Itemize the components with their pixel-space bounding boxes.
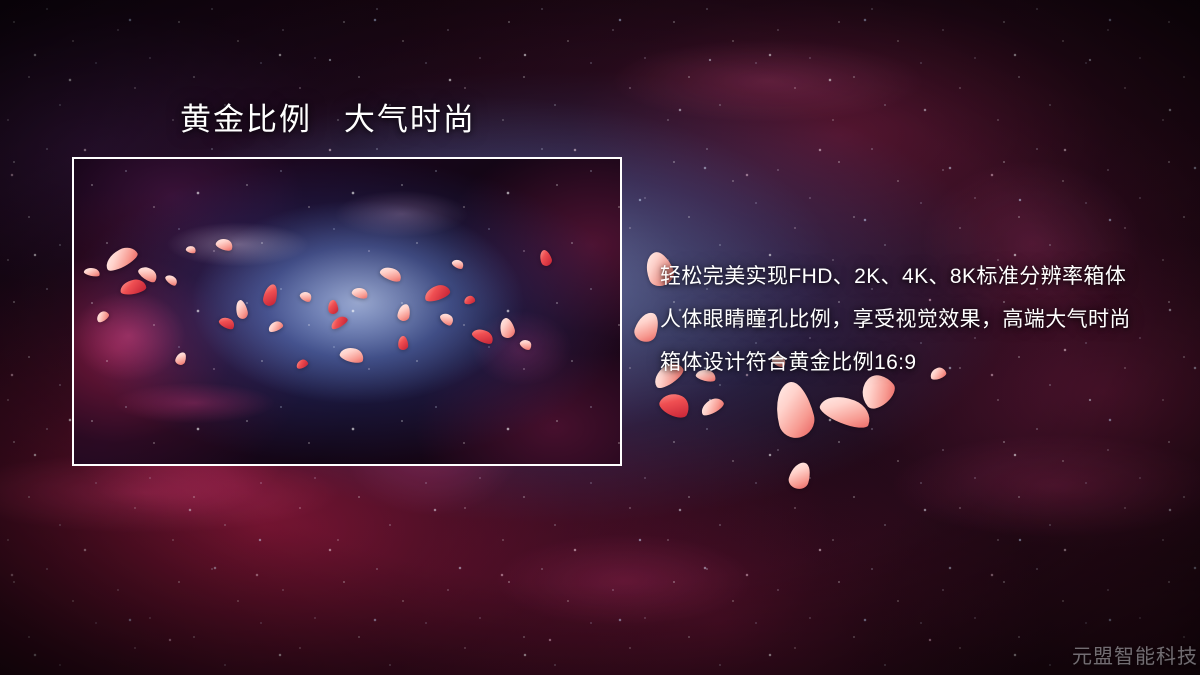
- petal: [218, 315, 237, 331]
- petal: [164, 273, 179, 287]
- body-paragraph: 轻松完美实现FHD、2K、4K、8K标准分辨率箱体 人体眼睛瞳孔比例，享受视觉效…: [660, 255, 1150, 384]
- slide-canvas: 黄金比例 大气时尚 轻松完美实现FHD、2K、4K、8K标准分辨率箱体 人体眼睛…: [0, 0, 1200, 675]
- petal: [397, 303, 412, 322]
- petal: [817, 389, 875, 433]
- petal: [770, 378, 818, 441]
- slide-title: 黄金比例 大气时尚: [180, 101, 476, 140]
- petal-cluster-photo: [74, 159, 620, 464]
- petal: [438, 311, 455, 328]
- body-line-1: 轻松完美实现FHD、2K、4K、8K标准分辨率箱体: [660, 255, 1150, 298]
- petal: [787, 460, 814, 491]
- body-line-2: 人体眼睛瞳孔比例，享受视觉效果，高端大气时尚: [660, 298, 1150, 341]
- petal: [95, 309, 111, 324]
- petal: [422, 282, 451, 303]
- petal: [327, 299, 339, 314]
- petal: [470, 326, 495, 346]
- petal: [538, 249, 554, 268]
- petal: [351, 286, 369, 300]
- petal: [463, 295, 475, 305]
- petal: [339, 345, 366, 365]
- petal: [174, 351, 188, 367]
- petal: [102, 243, 140, 274]
- petal: [698, 395, 725, 418]
- petal: [519, 337, 534, 351]
- petal: [397, 336, 408, 351]
- petal: [136, 263, 159, 284]
- petal: [657, 389, 694, 422]
- petal: [119, 278, 147, 296]
- petal: [299, 289, 314, 303]
- petal: [262, 283, 279, 307]
- petal: [379, 264, 404, 284]
- body-line-3: 箱体设计符合黄金比例16:9: [660, 341, 1150, 384]
- petal: [632, 309, 662, 344]
- petal: [83, 266, 100, 277]
- watermark-text: 元盟智能科技: [1072, 640, 1198, 669]
- petal: [234, 299, 249, 320]
- petal: [185, 245, 197, 255]
- petal: [295, 358, 309, 370]
- petal: [498, 316, 517, 339]
- petal: [215, 236, 235, 252]
- petal: [329, 314, 349, 331]
- petal: [267, 320, 284, 334]
- petal: [451, 258, 465, 271]
